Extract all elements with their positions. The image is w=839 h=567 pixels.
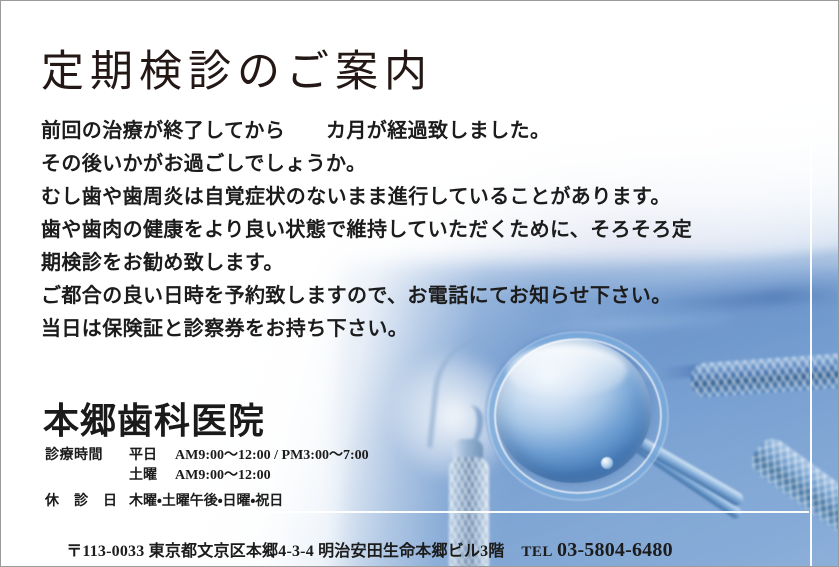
body-line: 当日は保険証と診察券をお持ち下さい。 [41, 313, 641, 346]
hours-saturday-label: 土曜 [129, 467, 175, 485]
hours-weekday-value: AM9:00～12:00 / PM3:00～7:00 [175, 447, 369, 465]
address-and-phone: 〒113-0033 東京都文京区本郷4-3-4 明治安田生命本郷ビル3階 TEL… [41, 519, 673, 567]
hours-weekday-label: 平日 [129, 447, 175, 465]
clinic-name: 本郷歯科医院 [43, 392, 265, 444]
body-line: ご都合の良い日時を予約致しますので、お電話にてお知らせ下さい。 [41, 280, 641, 313]
page-title: 定期検診のご案内 [41, 37, 433, 99]
hours-row-weekday: 診療時間 平日 AM9:00～12:00 / PM3:00～7:00 [45, 447, 369, 465]
closed-days-label: 休 診 日 [45, 493, 129, 511]
tel-number: 03-5804-6480 [557, 539, 673, 561]
body-paragraph: 前回の治療が終了してから カ月が経過致しました。 その後いかがお過ごしでしょうか… [41, 115, 641, 346]
hours-label: 診療時間 [45, 447, 129, 465]
dental-checkup-postcard: 定期検診のご案内 前回の治療が終了してから カ月が経過致しました。 その後いかが… [0, 0, 839, 567]
body-line: 前回の治療が終了してから カ月が経過致しました。 [41, 115, 641, 148]
body-line: その後いかがお過ごしでしょうか。 [41, 148, 641, 181]
body-line: 期検診をお勧め致します。 [41, 247, 641, 280]
hours-saturday-value: AM9:00～12:00 [175, 467, 271, 485]
closed-days-value: 木曜・土曜午後・日曜・祝日 [129, 493, 283, 511]
body-line: むし歯や歯周炎は自覚症状のないまま進行していることがあります。 [41, 181, 641, 214]
card-content: 定期検診のご案内 前回の治療が終了してから カ月が経過致しました。 その後いかが… [1, 1, 838, 566]
clinic-hours-block: 診療時間 平日 AM9:00～12:00 / PM3:00～7:00 土曜 AM… [45, 447, 369, 511]
postal-address: 〒113-0033 東京都文京区本郷4-3-4 明治安田生命本郷ビル3階 [66, 543, 504, 560]
address-gap [505, 543, 522, 560]
tel-label: TEL [521, 544, 553, 560]
hours-row-closed: 休 診 日 木曜・土曜午後・日曜・祝日 [45, 493, 369, 511]
body-line: 歯や歯肉の健康をより良い状態で維持していただくために、そろそろ定 [41, 214, 641, 247]
hours-row-saturday: 土曜 AM9:00～12:00 [45, 467, 369, 485]
